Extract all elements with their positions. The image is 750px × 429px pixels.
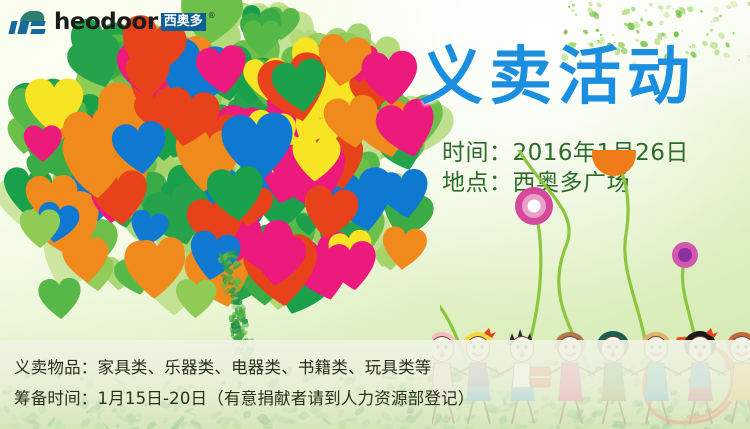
heart-shape [23,124,63,161]
speckle [713,5,720,13]
speckle [622,9,630,15]
speckle [587,1,593,7]
heart-shape [60,236,112,284]
speckle [719,14,723,18]
brand-wordmark: heodoor [54,11,158,34]
speckle [666,8,668,10]
speckle [711,20,713,23]
heart-shape [19,209,61,248]
heart-shape [359,49,420,107]
speckle [640,18,643,22]
footer-text: 义卖物品：家具类、乐器类、电器类、书籍类、玩具类等 筹备时间：1月15日-20日… [14,352,474,414]
speckle [662,11,671,19]
brand-logo[interactable]: heodoor 西奥多 ® [10,10,216,34]
heart-shape [242,20,282,57]
orange-balloon-flower [592,150,636,176]
heart-shape [375,166,433,221]
footer-prep: 筹备时间：1月15日-20日（有意捐献者请到人力资源部登记） [14,383,474,414]
speckle [568,5,570,8]
speckle [672,8,674,10]
registered-trademark-icon: ® [208,11,216,20]
heart-shape [379,225,429,272]
heart-shape [124,54,172,99]
speckle [571,8,576,12]
speckle [710,29,713,33]
speckle [597,2,602,8]
speckle [636,29,640,34]
speckle [649,2,654,7]
speckle [712,17,718,22]
heart-shape [290,134,343,183]
speckle [647,20,654,26]
speckle [699,10,702,13]
brand-chinese-name: 西奥多 [161,13,206,31]
speckle [657,5,664,11]
speckle [746,54,750,59]
speckle [681,29,683,31]
speckle [658,20,664,26]
speckle [563,29,569,35]
speckle [645,9,647,11]
speckle [596,29,600,33]
heart-shape [298,183,362,243]
footer-items: 义卖物品：家具类、乐器类、电器类、书籍类、玩具类等 [14,352,474,383]
speckle [732,31,735,34]
theodoor-logo-mark [10,10,52,34]
heart-shape [323,239,381,294]
page-title: 义卖活动 [420,36,740,118]
speckle [593,12,600,20]
speckle [572,3,576,7]
speckle [631,6,636,11]
poster-canvas: heodoor 西奥多 ® 义卖活动 时间：2016年1月26日 地点：西奥多广… [0,0,750,429]
speckle [746,1,750,7]
heart-shape [204,164,268,225]
heart-shape [109,119,171,178]
speckle [583,29,589,36]
speckle [575,13,577,16]
